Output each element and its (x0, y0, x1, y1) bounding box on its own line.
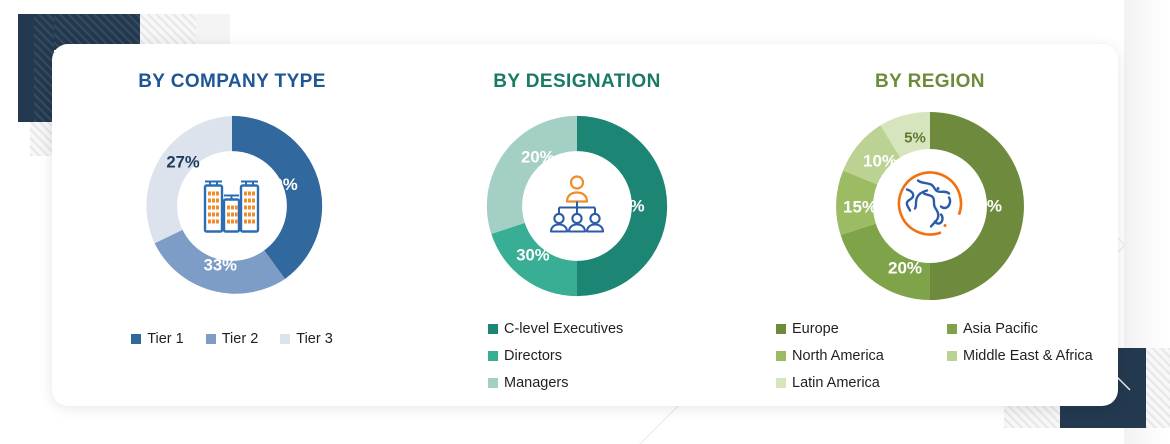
slice-label-managers: 20% (521, 148, 555, 167)
legend-label-tier-1: Tier 1 (147, 326, 184, 352)
slice-label-tier-2: 33% (204, 255, 238, 274)
legend-item-directors[interactable]: Directors (488, 343, 742, 369)
legend-label-asia-pacific: Asia Pacific (963, 316, 1038, 342)
legend-item-c-level-executives[interactable]: C-level Executives (488, 316, 742, 342)
legend-item-latin-america[interactable]: Latin America (776, 370, 947, 396)
donut-chart-company-type: 40% 33% 27% (134, 108, 330, 304)
legend-item-middle-east-africa[interactable]: Middle East & Africa (947, 343, 1118, 369)
globe-icon (894, 168, 966, 245)
legend-region: Europe Asia Pacific North America Middle… (742, 316, 1118, 397)
legend-item-asia-pacific[interactable]: Asia Pacific (947, 316, 1118, 342)
legend-label-middle-east-africa: Middle East & Africa (963, 343, 1093, 369)
slice-label-latin-america: 5% (904, 130, 926, 147)
panel-title-company-type: BY COMPANY TYPE (52, 71, 412, 93)
panel-title-designation: BY DESIGNATION (412, 71, 742, 93)
panel-region: BY REGION 50% 20% 15% (742, 44, 1118, 406)
legend-label-tier-2: Tier 2 (222, 326, 259, 352)
slice-label-north-america: 15% (843, 198, 877, 217)
legend-company-type: Tier 1 Tier 2 Tier 3 (52, 326, 412, 352)
slice-label-tier-1: 40% (264, 175, 298, 194)
legend-swatch-europe (776, 324, 786, 334)
legend-label-latin-america: Latin America (792, 370, 880, 396)
legend-label-europe: Europe (792, 316, 839, 342)
panel-title-region: BY REGION (742, 71, 1118, 93)
legend-item-managers[interactable]: Managers (488, 370, 742, 396)
slice-label-europe: 50% (968, 197, 1002, 216)
slice-label-asia-pacific: 20% (888, 259, 922, 278)
panel-designation: BY DESIGNATION 50% 30% 20% (412, 44, 742, 406)
legend-item-north-america[interactable]: North America (776, 343, 947, 369)
panel-company-type: BY COMPANY TYPE 40% 33% 27% (52, 44, 412, 406)
legend-swatch-managers (488, 378, 498, 388)
legend-swatch-north-america (776, 351, 786, 361)
legend-item-europe[interactable]: Europe (776, 316, 947, 342)
slice-label-directors: 30% (516, 246, 550, 265)
legend-label-directors: Directors (504, 343, 562, 369)
legend-swatch-tier-1 (131, 334, 141, 344)
legend-swatch-asia-pacific (947, 324, 957, 334)
legend-swatch-c-level-executives (488, 324, 498, 334)
office-buildings-icon (200, 173, 264, 240)
slice-label-c-level-executives: 50% (611, 197, 645, 216)
legend-item-tier-1[interactable]: Tier 1 (131, 326, 184, 352)
legend-label-north-america: North America (792, 343, 884, 369)
infographic-card: BY COMPANY TYPE 40% 33% 27% (52, 44, 1118, 406)
legend-swatch-tier-3 (280, 334, 290, 344)
donut-chart-designation: 50% 30% 20% (479, 108, 675, 304)
legend-swatch-directors (488, 351, 498, 361)
org-chart-people-icon (546, 174, 608, 239)
donut-chart-region: 50% 20% 15% 10% 5% (830, 106, 1030, 306)
slice-label-middle-east-africa: 10% (863, 152, 897, 171)
legend-designation: C-level Executives Directors Managers (412, 316, 742, 397)
legend-swatch-middle-east-africa (947, 351, 957, 361)
legend-swatch-tier-2 (206, 334, 216, 344)
legend-label-managers: Managers (504, 370, 568, 396)
legend-label-tier-3: Tier 3 (296, 326, 333, 352)
legend-swatch-latin-america (776, 378, 786, 388)
legend-item-tier-3[interactable]: Tier 3 (280, 326, 333, 352)
legend-item-tier-2[interactable]: Tier 2 (206, 326, 259, 352)
legend-label-c-level-executives: C-level Executives (504, 316, 623, 342)
slice-label-tier-3: 27% (166, 152, 200, 171)
